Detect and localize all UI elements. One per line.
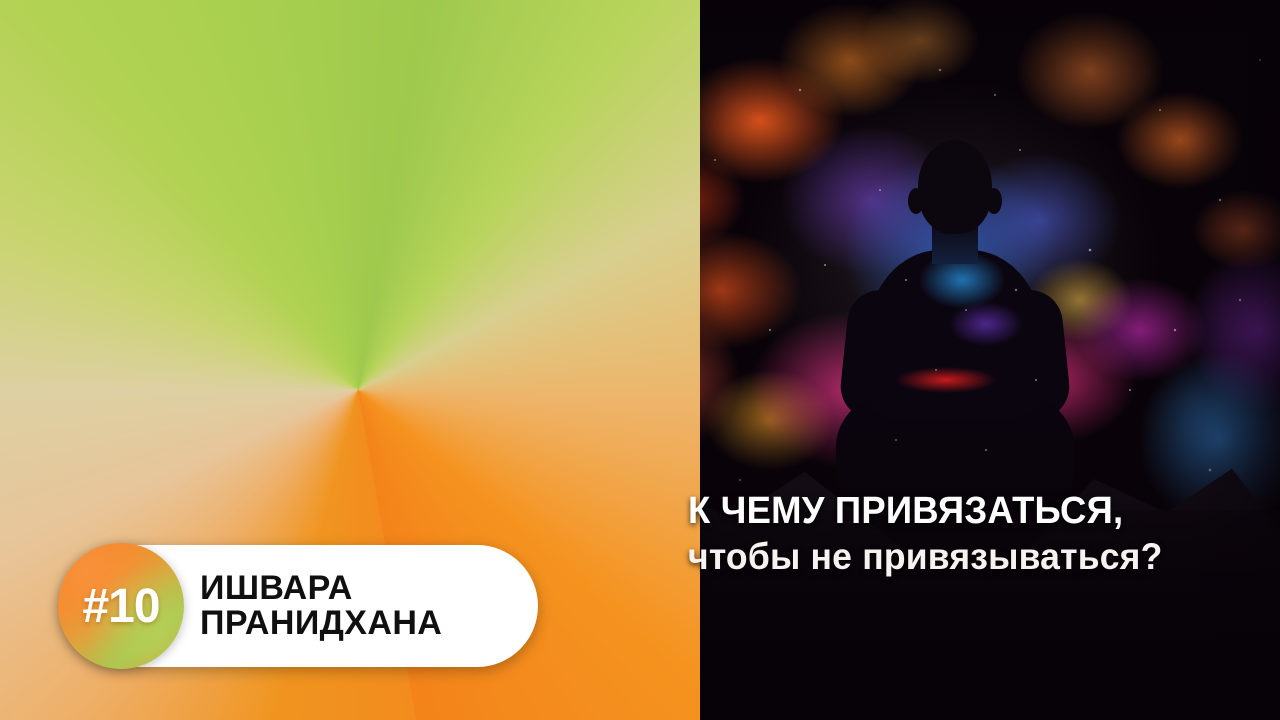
episode-title-pill[interactable]: #10 ИШВАРА ПРАНИДХАНА [60,545,538,667]
episode-number-label: #10 [82,579,159,634]
video-thumbnail: #10 ИШВАРА ПРАНИДХАНА К ЧЕМУ ПРИВЯЗАТЬСЯ… [0,0,1280,720]
presenter-pupil-right [319,131,327,139]
headline-block: К ЧЕМУ ПРИВЯЗАТЬСЯ, чтобы не привязывать… [688,492,1268,575]
headline-line-2: чтобы не привязываться? [688,538,1245,575]
episode-number-badge[interactable]: #10 [58,543,184,669]
vest-seam [180,452,406,456]
jacket-snap-button [416,390,434,408]
presenter-pupil-left [233,133,241,141]
cosmic-vignette [620,0,1280,720]
cosmic-panel [620,0,1280,720]
headline-line-1: К ЧЕМУ ПРИВЯЗАТЬСЯ, [688,492,1245,530]
episode-title-text: ИШВАРА ПРАНИДХАНА [200,571,442,641]
jacket-zipper-pull [120,484,134,522]
presenter-finger [399,230,420,283]
episode-title-line-2: ПРАНИДХАНА [200,606,442,641]
jacket-snap-button [428,512,446,530]
episode-title-line-1: ИШВАРА [200,571,442,606]
presenter-hair-part [258,38,304,78]
